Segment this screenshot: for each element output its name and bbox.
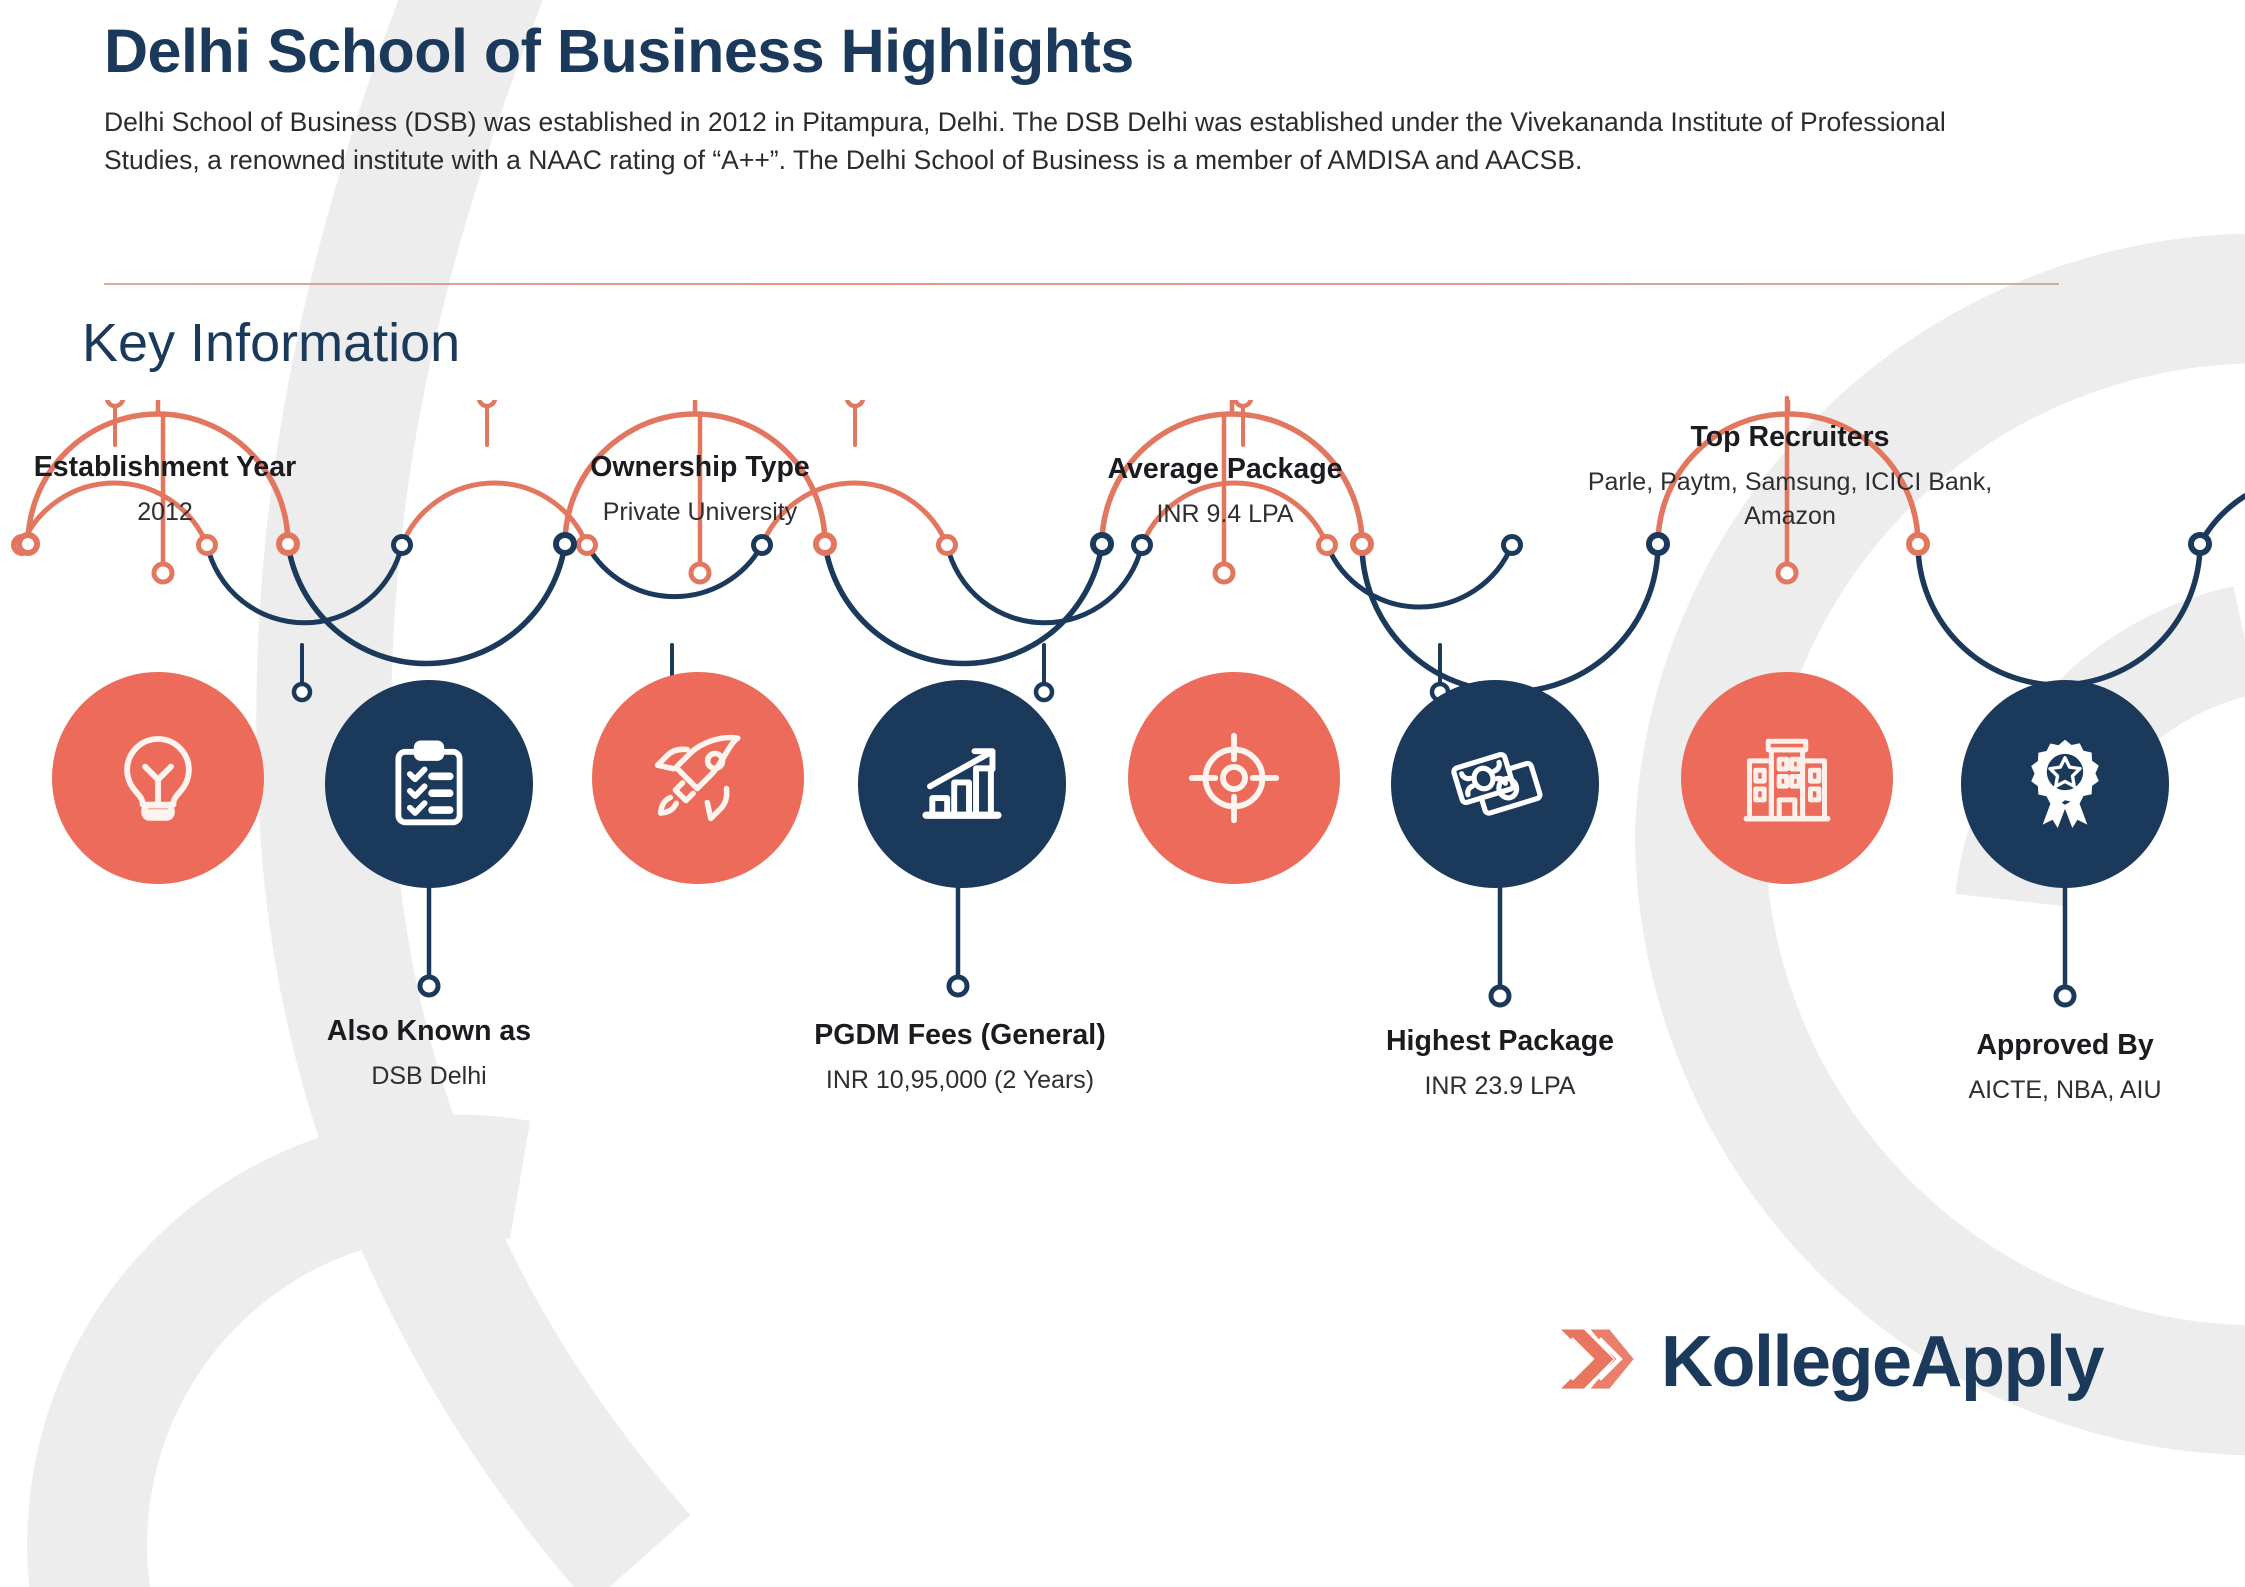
double-chevron-icon	[1553, 1316, 1639, 1407]
rocket-icon	[646, 726, 750, 830]
timeline-node-ownership-type[interactable]	[592, 672, 804, 884]
award-ribbon-icon	[2014, 733, 2116, 835]
label-title: Average Package	[1065, 452, 1385, 487]
label-ownership-type: Ownership Type Private University	[540, 450, 860, 529]
label-approved-by: Approved By AICTE, NBA, AIU	[1855, 1028, 2245, 1107]
timeline-node-establishment-year[interactable]	[52, 672, 264, 884]
label-title: Establishment Year	[0, 450, 330, 485]
timeline-node-approved-by[interactable]	[1961, 680, 2169, 888]
label-value: AICTE, NBA, AIU	[1855, 1074, 2245, 1107]
label-value: DSB Delhi	[268, 1060, 590, 1093]
label-top-recruiters: Top Recruiters Parle, Paytm, Samsung, IC…	[1555, 420, 2025, 533]
header-divider	[104, 283, 2059, 285]
intro-paragraph: Delhi School of Business (DSB) was estab…	[104, 104, 1994, 180]
timeline-node-highest-package[interactable]	[1391, 680, 1599, 888]
label-pgdm-fees: PGDM Fees (General) INR 10,95,000 (2 Yea…	[710, 1018, 1210, 1097]
timeline-node-pgdm-fees[interactable]	[858, 680, 1066, 888]
label-title: Highest Package	[1290, 1024, 1710, 1059]
section-title-key-information: Key Information	[82, 312, 460, 374]
label-title: Also Known as	[268, 1014, 590, 1049]
clipboard-checklist-icon	[380, 735, 478, 833]
label-title: PGDM Fees (General)	[710, 1018, 1210, 1053]
timeline-node-top-recruiters[interactable]	[1681, 672, 1893, 884]
label-also-known-as: Also Known as DSB Delhi	[268, 1014, 590, 1093]
label-value: INR 23.9 LPA	[1290, 1070, 1710, 1103]
cash-notes-icon	[1445, 734, 1545, 834]
page-title: Delhi School of Business Highlights	[104, 16, 2114, 88]
timeline-node-also-known-as[interactable]	[325, 680, 533, 888]
bar-chart-growth-icon	[912, 734, 1012, 834]
lightbulb-icon	[106, 726, 210, 830]
label-establishment-year: Establishment Year 2012	[0, 450, 330, 529]
building-icon	[1737, 728, 1837, 828]
label-title: Approved By	[1855, 1028, 2245, 1063]
label-value: 2012	[0, 496, 330, 529]
timeline-node-average-package[interactable]	[1128, 672, 1340, 884]
label-title: Ownership Type	[540, 450, 860, 485]
label-value: INR 9.4 LPA	[1065, 498, 1385, 531]
infographic-canvas: Delhi School of Business Highlights Delh…	[0, 0, 2245, 1587]
header-block: Delhi School of Business Highlights Delh…	[104, 16, 2114, 180]
label-value: Private University	[540, 496, 860, 529]
label-value: INR 10,95,000 (2 Years)	[710, 1064, 1210, 1097]
kollegeapply-logo[interactable]: KollegeApply	[1553, 1316, 2103, 1407]
label-highest-package: Highest Package INR 23.9 LPA	[1290, 1024, 1710, 1103]
target-icon	[1182, 726, 1286, 830]
label-value: Parle, Paytm, Samsung, ICICI Bank, Amazo…	[1555, 466, 2025, 534]
logo-wordmark: KollegeApply	[1661, 1326, 2103, 1398]
label-title: Top Recruiters	[1555, 420, 2025, 455]
label-average-package: Average Package INR 9.4 LPA	[1065, 452, 1385, 531]
